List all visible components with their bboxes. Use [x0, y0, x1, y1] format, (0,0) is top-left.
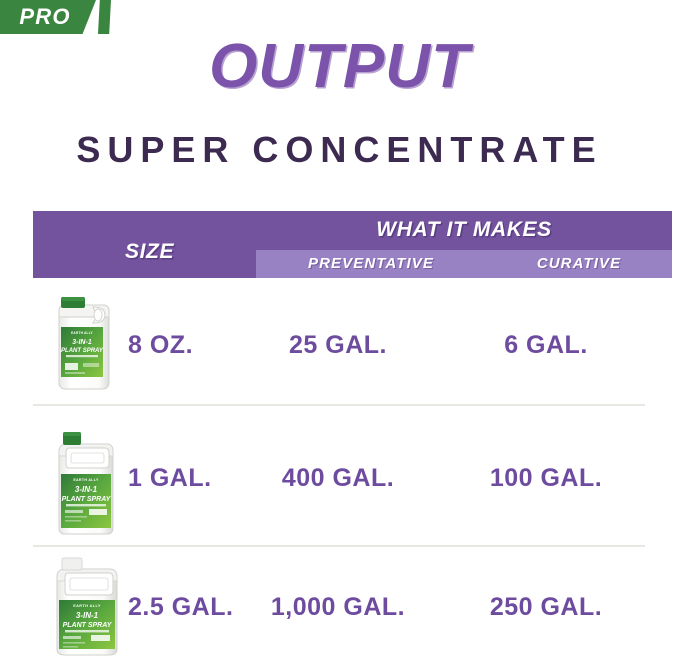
cell-curative: 250 GAL.: [453, 595, 639, 620]
cell-size: 2.5 GAL.: [128, 595, 233, 620]
column-header-size: SIZE: [125, 241, 174, 262]
product-image-8oz: EARTH ALLY 3-IN-1 PLANT SPRAY: [55, 293, 113, 391]
cell-curative: 100 GAL.: [453, 466, 639, 491]
table-header: SIZE WHAT IT MAKES PREVENTATIVE CURATIVE: [33, 211, 672, 278]
page-subtitle: SUPER CONCENTRATE: [0, 132, 679, 168]
cell-size: 8 OZ.: [128, 333, 193, 358]
page-title: OUTPUT: [0, 36, 679, 98]
svg-text:PLANT SPRAY: PLANT SPRAY: [63, 622, 113, 629]
column-header-what-it-makes: WHAT IT MAKES: [256, 219, 672, 240]
svg-text:EARTH ALLY: EARTH ALLY: [73, 478, 99, 482]
column-header-preventative: PREVENTATIVE: [256, 256, 486, 271]
pro-badge-label: PRO: [19, 6, 70, 28]
svg-text:3-IN-1: 3-IN-1: [72, 339, 92, 346]
pro-badge-accent-sliver: [98, 0, 111, 34]
column-header-curative: CURATIVE: [486, 256, 672, 271]
table-row: EARTH ALLY 3-IN-1 PLANT SPRAY 8 OZ. 25 G…: [33, 283, 672, 401]
svg-text:EARTH ALLY: EARTH ALLY: [73, 604, 101, 608]
svg-text:PLANT SPRAY: PLANT SPRAY: [61, 348, 104, 354]
svg-text:EARTH ALLY: EARTH ALLY: [71, 331, 93, 335]
table-row: EARTH ALLY 3-IN-1 PLANT SPRAY 2.5 GAL. 1…: [33, 547, 672, 659]
svg-text:PLANT SPRAY: PLANT SPRAY: [62, 496, 112, 503]
cell-preventative: 1,000 GAL.: [223, 595, 453, 620]
pro-badge: PRO: [0, 0, 96, 34]
product-image-1gal: EARTH ALLY 3-IN-1 PLANT SPRAY: [53, 422, 119, 537]
cell-size: 1 GAL.: [128, 466, 212, 491]
product-image-2-5gal: EARTH ALLY 3-IN-1 PLANT SPRAY: [51, 553, 123, 658]
cell-curative: 6 GAL.: [453, 333, 639, 358]
column-header-subband: PREVENTATIVE CURATIVE: [256, 250, 672, 278]
cell-preventative: 25 GAL.: [223, 333, 453, 358]
svg-text:3-IN-1: 3-IN-1: [75, 485, 98, 494]
cell-preventative: 400 GAL.: [223, 466, 453, 491]
table-row: EARTH ALLY 3-IN-1 PLANT SPRAY 1 GAL. 400…: [33, 404, 672, 544]
svg-text:3-IN-1: 3-IN-1: [76, 611, 99, 620]
